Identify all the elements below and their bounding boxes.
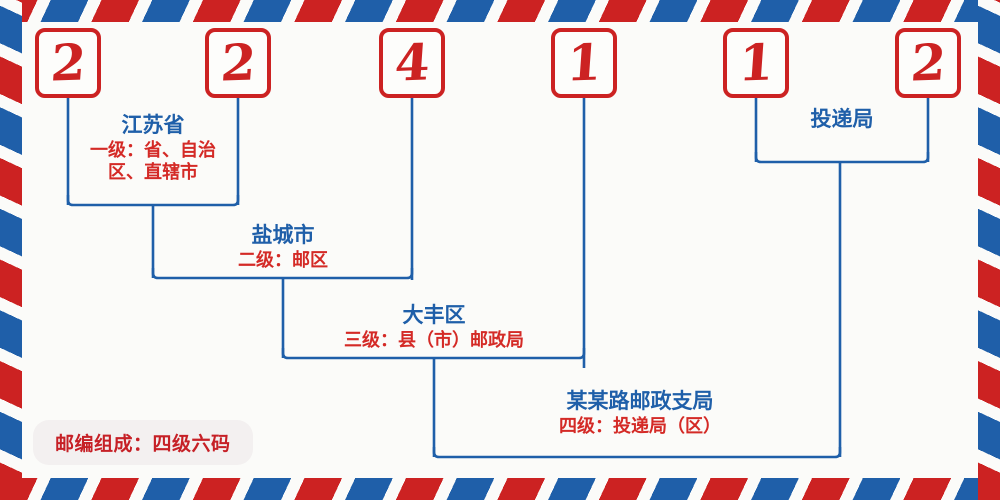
digit-glyph-1: 2 <box>49 37 87 88</box>
airmail-border-bottom <box>0 478 1000 500</box>
digit-box-4[interactable]: 1 <box>551 28 617 98</box>
digit-glyph-3: 4 <box>393 37 431 88</box>
legend-badge: 邮编组成：四级六码 <box>33 420 253 465</box>
level-2-label: 盐城市 二级：邮区 <box>183 222 383 272</box>
level-4-title: 某某路邮政支局 <box>508 388 772 414</box>
digit-glyph-2: 2 <box>219 37 257 88</box>
digit-glyph-6: 2 <box>909 37 947 88</box>
envelope-inner-area <box>22 22 978 478</box>
digit-box-5[interactable]: 1 <box>723 28 789 98</box>
level-1-label: 江苏省 一级：省、自治区、直辖市 <box>78 112 228 184</box>
airmail-border-left <box>0 0 22 500</box>
postal-code-diagram: 2 2 4 1 1 2 江苏省 一级：省、自治区、直辖市 盐城市 二级：邮区 大… <box>0 0 1000 500</box>
level-1-sub: 一级：省、自治区、直辖市 <box>78 140 228 185</box>
delivery-office-label: 投递局 <box>762 106 922 132</box>
airmail-border-right <box>978 0 1000 500</box>
digit-box-1[interactable]: 2 <box>35 28 101 98</box>
digit-box-6[interactable]: 2 <box>895 28 961 98</box>
level-2-title: 盐城市 <box>183 222 383 248</box>
level-1-title: 江苏省 <box>78 112 228 138</box>
level-4-label: 某某路邮政支局 四级：投递局（区） <box>508 388 772 438</box>
level-3-title: 大丰区 <box>304 302 564 328</box>
level-2-sub: 二级：邮区 <box>183 250 383 272</box>
digit-box-2[interactable]: 2 <box>205 28 271 98</box>
digit-glyph-4: 1 <box>565 37 603 88</box>
level-3-label: 大丰区 三级：县（市）邮政局 <box>304 302 564 352</box>
digit-box-3[interactable]: 4 <box>379 28 445 98</box>
delivery-office-title: 投递局 <box>762 106 922 132</box>
digit-glyph-5: 1 <box>737 37 775 88</box>
airmail-border-top <box>0 0 1000 22</box>
level-4-sub: 四级：投递局（区） <box>508 416 772 438</box>
level-3-sub: 三级：县（市）邮政局 <box>304 330 564 352</box>
